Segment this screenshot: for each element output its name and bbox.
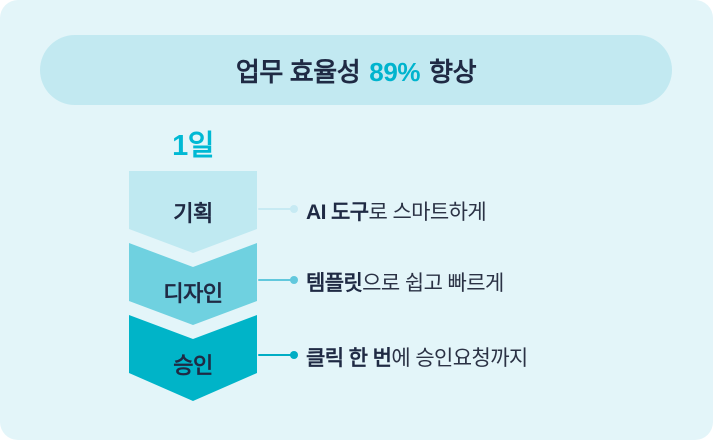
header-lead-text: 업무 효율성 (236, 52, 360, 89)
header-highlight-percent: 89% (369, 57, 420, 88)
funnel-step-design-shape (129, 243, 257, 325)
connector-line-approval (258, 349, 302, 361)
description-approval: 클릭 한 번 에 승인요청까지 (306, 342, 528, 372)
description-design-rest: 으로 쉽고 빠르게 (362, 267, 504, 297)
description-approval-strong: 클릭 한 번 (306, 342, 391, 372)
connector-dot (290, 351, 298, 359)
funnel-step-planning-shape (129, 171, 257, 253)
connector-line-segment (258, 208, 292, 210)
description-planning-strong: AI 도구 (306, 196, 368, 226)
connector-line-planning (258, 203, 302, 215)
process-funnel: 기획 디자인 승인 (129, 171, 257, 401)
description-design-strong: 템플릿 (306, 267, 362, 297)
infographic-canvas: 업무 효율성 89% 향상 1일 기획 디자인 승인 (0, 0, 713, 440)
funnel-step-planning[interactable]: 기획 (129, 171, 257, 253)
description-planning: AI 도구 로 스마트하게 (306, 196, 486, 226)
connector-line-design (258, 274, 302, 286)
funnel-step-design[interactable]: 디자인 (129, 243, 257, 325)
funnel-step-approval-shape (129, 315, 257, 401)
header-tail-text: 향상 (429, 52, 476, 89)
connector-dot (290, 205, 298, 213)
description-approval-rest: 에 승인요청까지 (391, 342, 527, 372)
description-planning-rest: 로 스마트하게 (368, 196, 486, 226)
day-duration-label: 1일 (129, 122, 257, 164)
connector-line-segment (258, 279, 292, 281)
connector-dot (290, 276, 298, 284)
header-banner: 업무 효율성 89% 향상 (40, 35, 672, 105)
header-banner-text: 업무 효율성 89% 향상 (236, 52, 476, 89)
description-design: 템플릿 으로 쉽고 빠르게 (306, 267, 504, 297)
connector-line-segment (258, 354, 292, 356)
funnel-step-approval[interactable]: 승인 (129, 315, 257, 401)
